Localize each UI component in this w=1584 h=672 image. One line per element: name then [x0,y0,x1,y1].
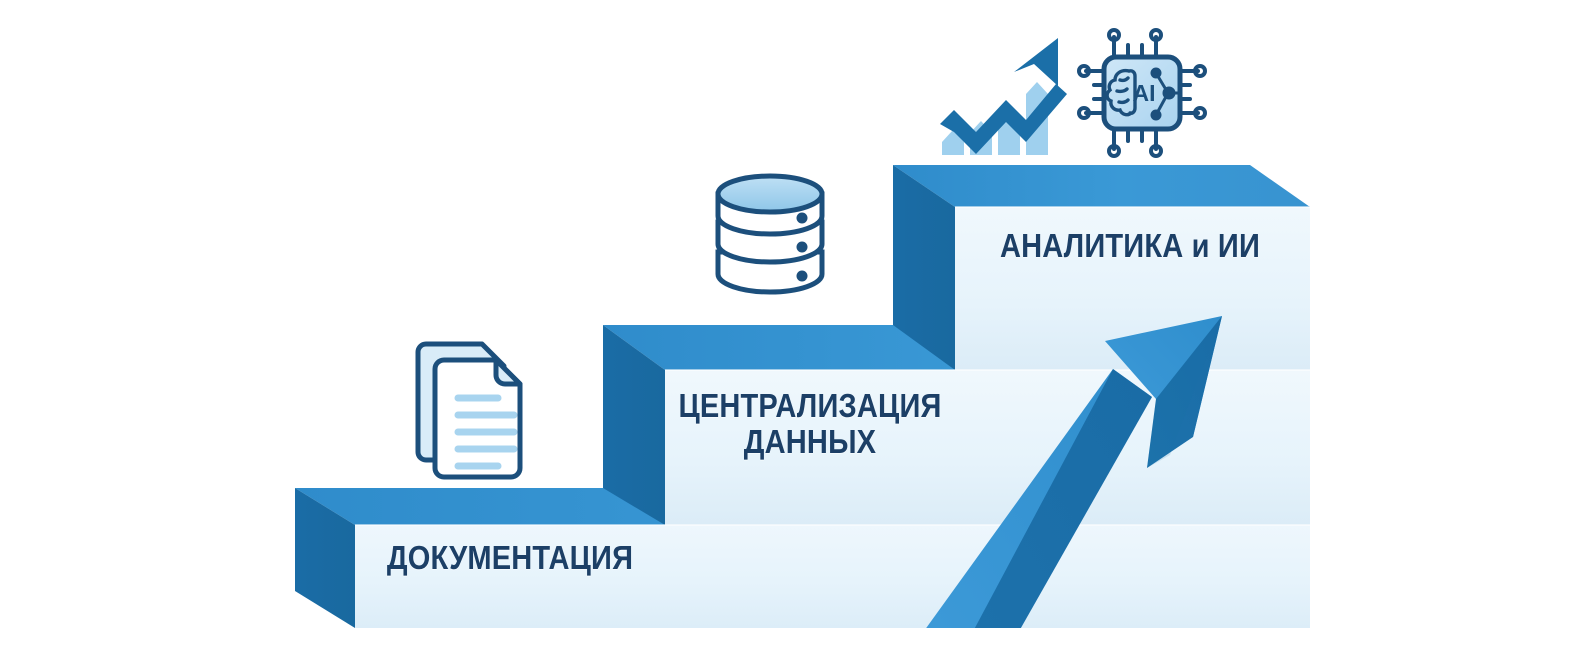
step-3-block [893,165,1310,370]
ai-chip-icon: AI [1079,30,1205,156]
ai-chip-label: AI [1133,80,1156,106]
documents-folded-corner [496,360,520,384]
database-icon [718,176,822,292]
growth-chart-bar-1-body [942,142,964,155]
database-top-ellipse [718,176,822,212]
staircase-illustration: AI [0,0,1584,672]
growth-chart-bar-4-cap [1026,82,1048,94]
growth-chart-arrow-head [1014,38,1058,86]
growth-chart-icon [940,38,1067,155]
step-label-documentation: ДОКУМЕНТАЦИЯ [352,540,669,576]
infographic-canvas: AI ДОКУМЕНТАЦИЯ ЦЕНТРАЛИЗАЦИЯ ДАННЫХ АНА… [0,0,1584,672]
database-dot-2 [797,242,808,253]
step-label-analytics-ai: АНАЛИТИКА и ИИ [958,228,1301,264]
step-3-top-face [893,165,1310,207]
database-dot-3 [797,271,808,282]
database-dot-1 [797,213,808,224]
step-label-data-centralization: ЦЕНТРАЛИЗАЦИЯ ДАННЫХ [660,388,959,459]
documents-icon [418,344,520,477]
